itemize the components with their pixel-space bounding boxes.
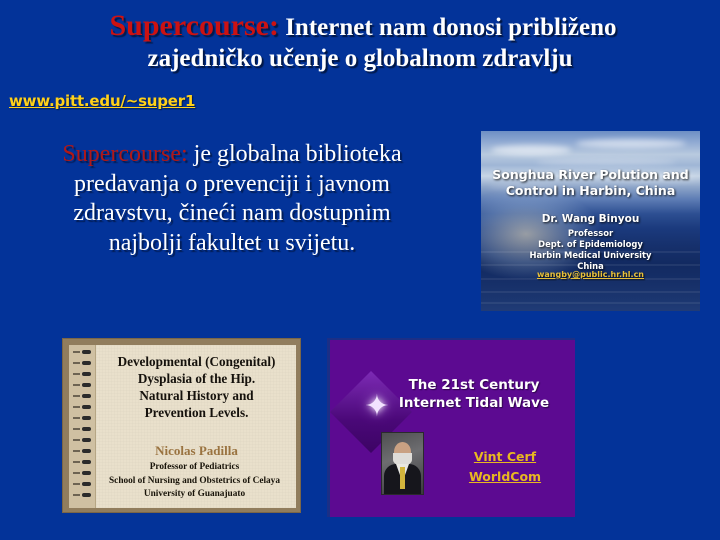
songhua-title: Songhua River Polution and Control in Ha…: [481, 167, 700, 198]
songhua-email-link[interactable]: wangby@public.hr.hl.cn: [481, 270, 700, 279]
thumbnail-internet-tidal-wave[interactable]: ✦ The 21st Century Internet Tidal Wave V…: [327, 338, 575, 517]
ddh-title-line-2: Dysplasia of the Hip.: [97, 370, 296, 387]
cloud-shape: [536, 158, 676, 166]
thumbnail-songhua-river[interactable]: Songhua River Polution and Control in Ha…: [481, 131, 700, 311]
ddh-affil-line-3: University of Guanajuato: [91, 488, 298, 502]
cloud-shape: [576, 139, 686, 148]
ddh-title-line-1: Developmental (Congenital): [97, 353, 296, 370]
vint-cerf-portrait: [381, 432, 424, 495]
songhua-author: Dr. Wang Binyou: [481, 213, 700, 225]
tidal-title-line-1: The 21st Century: [374, 376, 574, 394]
title-line-1: Supercourse: Internet nam donosi približ…: [0, 10, 720, 43]
title-line-2: zajedničko učenje o globalnom zdravlju: [0, 43, 720, 74]
slide-title: Supercourse: Internet nam donosi približ…: [0, 10, 720, 74]
water-stripe: [481, 302, 700, 304]
songhua-affiliation: Professor Dept. of Epidemiology Harbin M…: [481, 228, 700, 272]
tidal-speaker-info: Vint Cerf WorldCom: [442, 447, 568, 487]
thumbnail-hip-dysplasia[interactable]: Developmental (Congenital) Dysplasia of …: [62, 338, 301, 513]
tidal-title-line-2: Internet Tidal Wave: [374, 394, 574, 412]
ddh-affiliation: Professor of Pediatrics School of Nursin…: [91, 461, 298, 502]
tidal-title: The 21st Century Internet Tidal Wave: [374, 376, 574, 412]
ddh-title: Developmental (Congenital) Dysplasia of …: [97, 353, 296, 421]
songhua-department: Dept. of Epidemiology: [481, 239, 700, 250]
body-paragraph: Supercourse: je globalna biblioteka pred…: [34, 140, 430, 258]
ddh-title-line-4: Prevention Levels.: [97, 404, 296, 421]
title-supercourse-highlight: Supercourse:: [110, 9, 279, 42]
tidal-speaker-name[interactable]: Vint Cerf: [442, 447, 568, 467]
ddh-affil-line-2: School of Nursing and Obstetrics of Cela…: [91, 475, 298, 489]
portrait-tie: [400, 467, 405, 489]
ddh-affil-line-1: Professor of Pediatrics: [91, 461, 298, 475]
title-line-1-rest: Internet nam donosi približeno: [279, 14, 617, 41]
supercourse-url-link[interactable]: www.pitt.edu/~super1: [9, 92, 195, 110]
songhua-university: Harbin Medical University: [481, 250, 700, 261]
cloud-shape: [491, 145, 571, 155]
water-stripe: [481, 291, 700, 293]
tidal-speaker-company[interactable]: WorldCom: [442, 467, 568, 487]
songhua-role: Professor: [481, 228, 700, 239]
slide-canvas: Supercourse: Internet nam donosi približ…: [0, 0, 720, 540]
body-supercourse-highlight: Supercourse:: [62, 141, 187, 167]
ddh-author: Nicolas Padilla: [97, 443, 296, 459]
ddh-title-line-3: Natural History and: [97, 387, 296, 404]
